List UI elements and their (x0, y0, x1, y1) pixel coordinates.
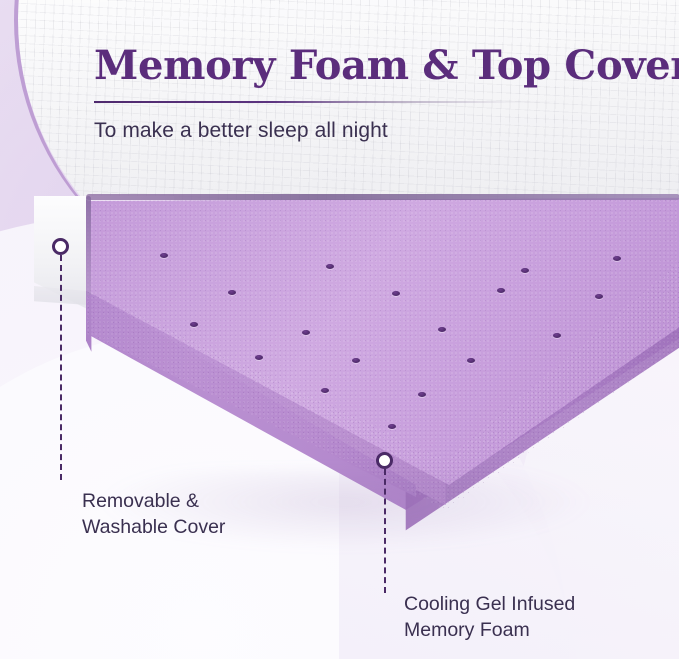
foam-vent-hole (521, 268, 529, 273)
title-divider (94, 101, 564, 103)
header-block: Memory Foam & Top Cover To make a better… (94, 44, 674, 143)
foam-top-left-edge (86, 196, 91, 296)
foam-vent-hole (160, 253, 168, 258)
foam-vent-hole (595, 294, 603, 299)
callout-marker-foam (376, 452, 393, 469)
page-title: Memory Foam & Top Cover (94, 44, 674, 87)
foam-vent-hole (553, 333, 561, 338)
foam-vent-hole (302, 330, 310, 335)
foam-vent-hole (438, 327, 446, 332)
foam-vent-hole (418, 392, 426, 397)
foam-vent-hole (326, 264, 334, 269)
callout-label-foam: Cooling Gel Infused Memory Foam (404, 592, 654, 643)
callout-leader-cover (60, 255, 62, 480)
foam-vent-hole (392, 291, 400, 296)
foam-vent-hole (321, 388, 329, 393)
callout-label-cover: Removable & Washable Cover (82, 489, 312, 540)
foam-vent-hole (497, 288, 505, 293)
callout-leader-foam (384, 469, 386, 593)
product-infographic: Memory Foam & Top Cover To make a better… (0, 0, 679, 659)
foam-top-back-edge (86, 194, 679, 200)
foam-vent-hole (190, 322, 198, 327)
foam-vent-hole (388, 424, 396, 429)
callout-marker-cover (52, 238, 69, 255)
foam-vent-hole (352, 358, 360, 363)
page-subtitle: To make a better sleep all night (94, 119, 674, 143)
foam-vent-hole (467, 358, 475, 363)
foam-vent-hole (255, 355, 263, 360)
foam-vent-hole (228, 290, 236, 295)
foam-vent-hole (613, 256, 621, 261)
